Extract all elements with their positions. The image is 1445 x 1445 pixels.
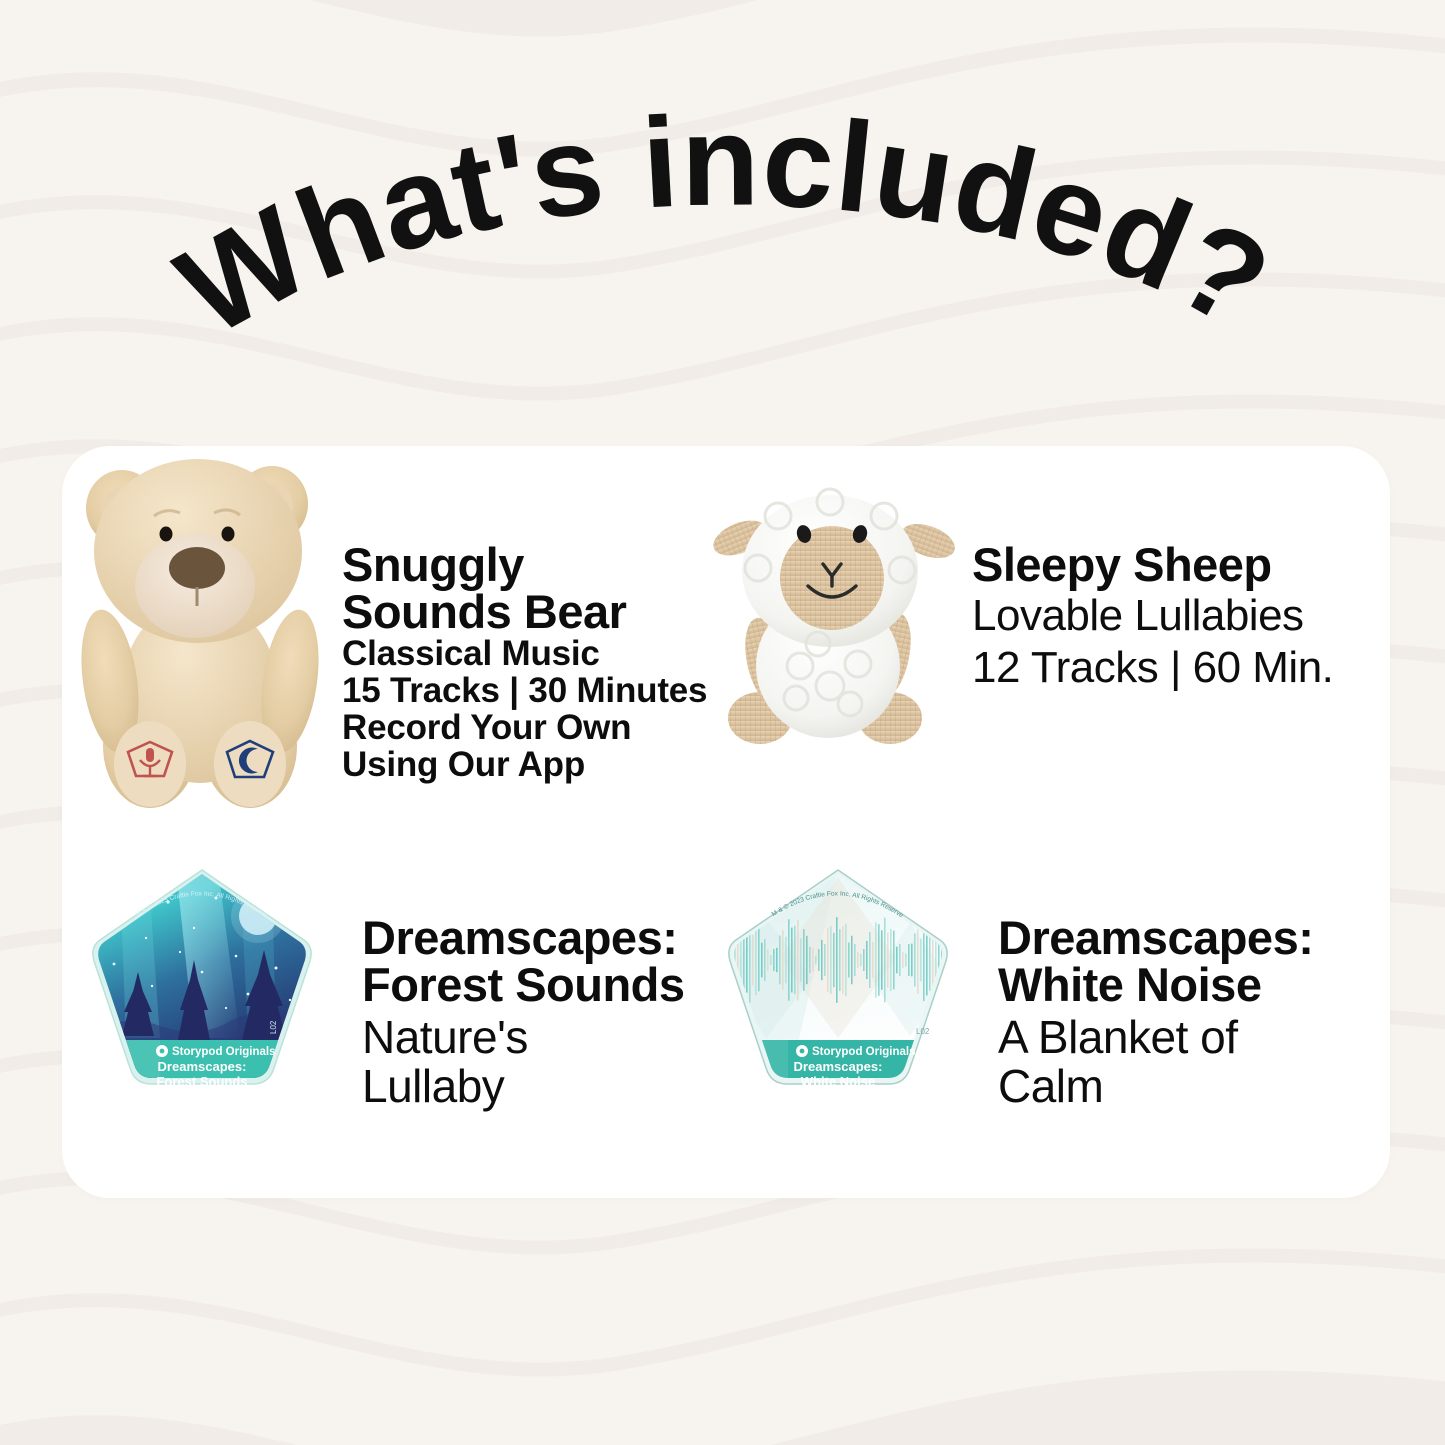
craftie-brand: Storypod Originals: [156, 1045, 276, 1058]
product-title: Snuggly Sounds Bear: [342, 541, 726, 635]
dreamscapes-forest-sounds-text: Dreamscapes: Forest Sounds Nature's Lull…: [362, 846, 726, 1111]
product-details: Lovable Lullabies 12 Tracks | 60 Min.: [972, 593, 1390, 691]
craftie-name-line1: Dreamscapes:: [158, 1059, 247, 1074]
craftie-name-line1: Dreamscapes:: [794, 1059, 883, 1074]
craftie-code: L02: [269, 1020, 278, 1034]
product-title: Dreamscapes: Forest Sounds: [362, 914, 726, 1008]
sleepy-sheep-text: Sleepy Sheep Lovable Lullabies 12 Tracks…: [972, 446, 1390, 691]
page-title-text: What's included?: [156, 90, 1292, 364]
product-item-snuggly-sounds-bear: Snuggly Sounds Bear Classical Music 15 T…: [62, 446, 726, 846]
craftie-brand-label: Storypod Originals: [812, 1046, 916, 1058]
snuggly-sounds-bear-text: Snuggly Sounds Bear Classical Music 15 T…: [342, 446, 726, 783]
page-title: What's included?: [0, 96, 1445, 396]
product-title: Sleepy Sheep: [972, 541, 1390, 588]
craftie-code: L02: [916, 1027, 930, 1036]
product-details: Classical Music 15 Tracks | 30 Minutes R…: [342, 635, 726, 783]
craftie-forest-sounds-image: L02 TM & © 2023 Craftie Fox Inc. All Rig…: [62, 846, 362, 1096]
craftie-name-line2: Forest Sounds: [156, 1074, 247, 1089]
product-details: Nature's Lullaby: [362, 1013, 726, 1111]
product-item-sleepy-sheep: Sleepy Sheep Lovable Lullabies 12 Tracks…: [700, 446, 1390, 846]
craftie-white-noise-image: L02 TM & © 2023 Craftie Fox Inc. All Rig…: [700, 846, 998, 1096]
product-card: Snuggly Sounds Bear Classical Music 15 T…: [62, 446, 1390, 1198]
dreamscapes-white-noise-text: Dreamscapes: White Noise A Blanket of Ca…: [998, 846, 1390, 1111]
craftie-brand-label: Storypod Originals: [172, 1046, 276, 1058]
craftie-brand: Storypod Originals: [796, 1045, 916, 1058]
page-title-label: What's included?: [156, 90, 1292, 364]
teddy-bear-image: [62, 446, 342, 816]
product-details: A Blanket of Calm: [998, 1013, 1390, 1111]
product-item-dreamscapes-white-noise: L02 TM & © 2023 Craftie Fox Inc. All Rig…: [700, 846, 1390, 1198]
product-item-dreamscapes-forest-sounds: L02 TM & © 2023 Craftie Fox Inc. All Rig…: [62, 846, 726, 1198]
product-title: Dreamscapes: White Noise: [998, 914, 1390, 1008]
knit-sheep-image: [700, 446, 972, 766]
craftie-name-line2: White Noise: [801, 1074, 875, 1089]
